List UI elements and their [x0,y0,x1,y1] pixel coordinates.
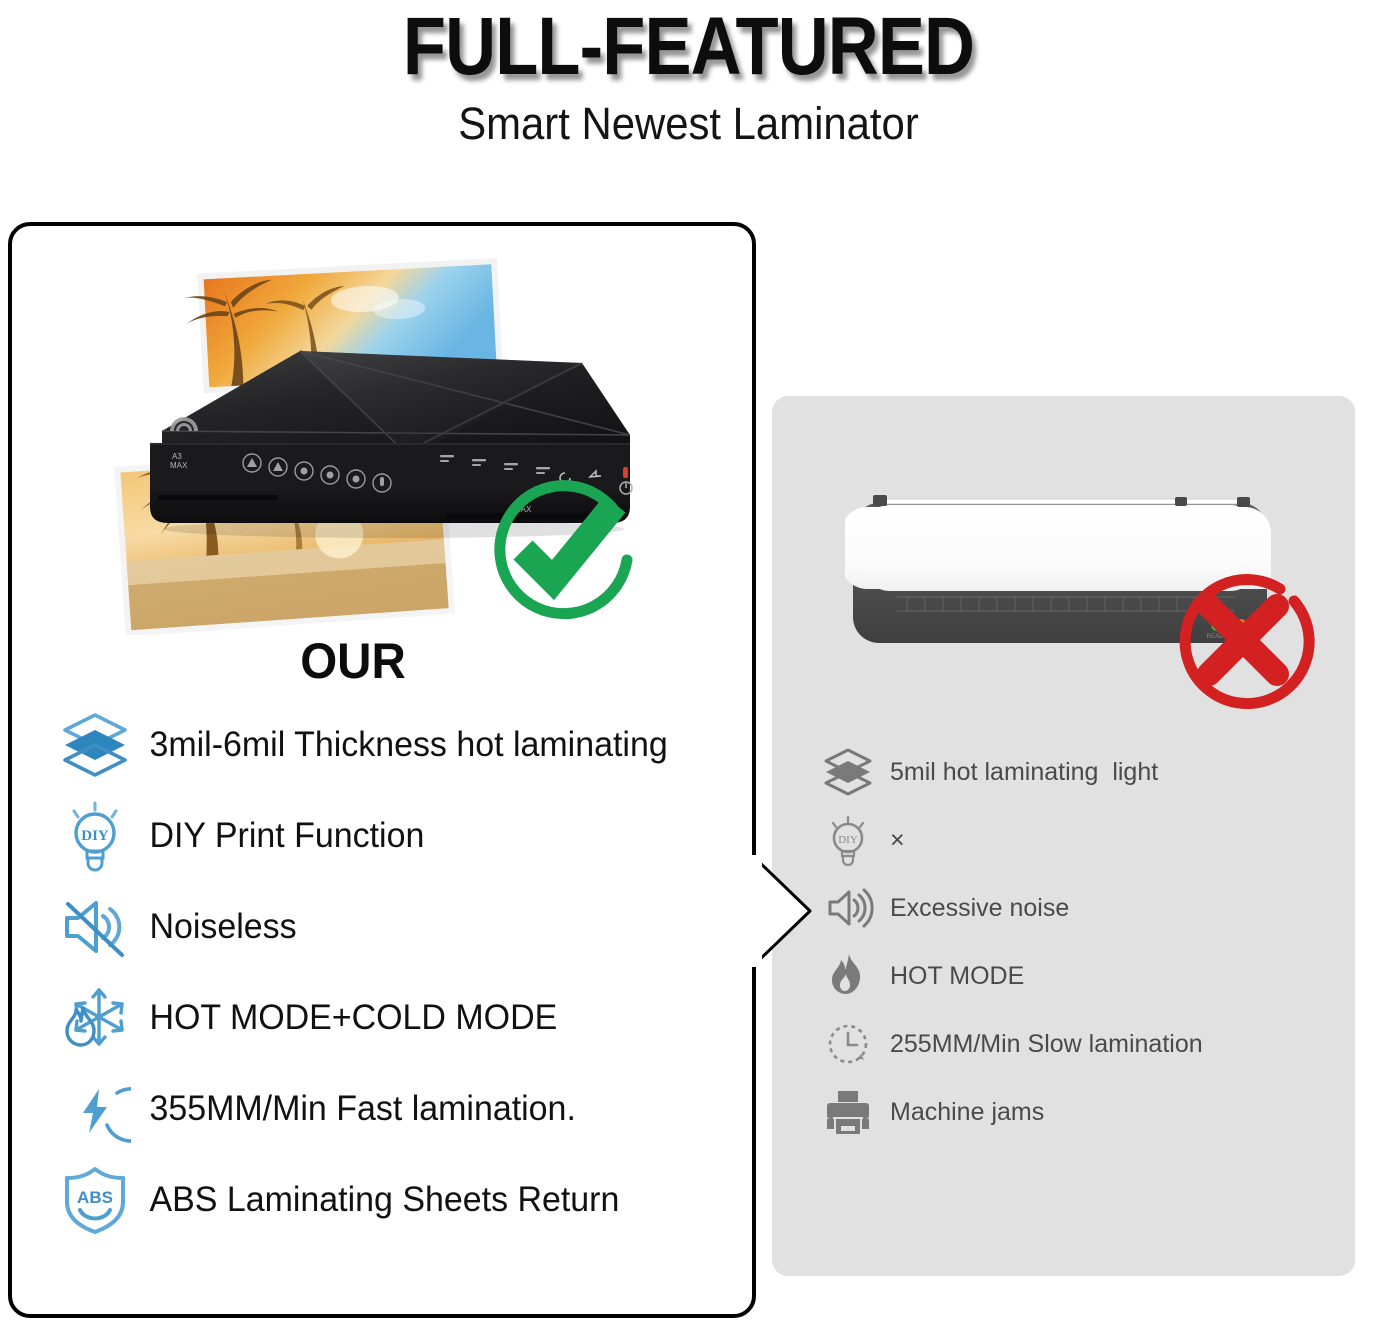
competitor-feature-list: 5mil hot laminating light DIY × [820,738,1340,1146]
lightning-icon [58,1070,132,1148]
snowflake-flame-icon [58,979,132,1057]
flame-icon [820,947,876,1005]
list-item-label: ABS Laminating Sheets Return [132,1180,619,1220]
svg-text:ABS: ABS [77,1188,113,1207]
layers-icon [820,743,876,801]
list-item: HOT MODE [820,942,1340,1010]
list-item-label: 5mil hot laminating light [876,757,1158,787]
list-item: 255MM/Min Slow lamination [820,1010,1340,1078]
diy-bulb-icon: DIY [820,811,876,869]
list-item-label: 255MM/Min Slow lamination [876,1029,1203,1059]
list-item-label: Noiseless [132,907,297,947]
red-x-icon [1168,565,1318,715]
clock-icon [820,1015,876,1073]
page-title: FULL-FEATURED [96,4,1280,90]
green-check-icon [485,468,645,628]
svg-text:DIY: DIY [838,834,858,846]
page-subtitle: Smart Newest Laminator [48,98,1329,150]
list-item-label: 355MM/Min Fast lamination. [132,1089,576,1129]
list-item: DIY × [820,806,1340,874]
list-item: Machine jams [820,1078,1340,1146]
our-section-title: OUR [25,633,681,689]
list-item-label: DIY Print Function [132,816,424,856]
our-feature-list: 3mil-6mil Thickness hot laminating DIY D… [58,700,738,1246]
abs-shield-icon: ABS [58,1161,132,1239]
printer-icon [820,1083,876,1141]
list-item-label: Excessive noise [876,893,1069,923]
list-item: 3mil-6mil Thickness hot laminating [58,700,738,790]
layers-icon [58,706,132,784]
list-item: Excessive noise [820,874,1340,942]
list-item-label: 3mil-6mil Thickness hot laminating [132,725,668,765]
svg-text:A3: A3 [172,452,182,461]
list-item: 5mil hot laminating light [820,738,1340,806]
list-item-label: Machine jams [876,1097,1044,1127]
speaker-noise-icon [820,879,876,937]
svg-text:DIY: DIY [81,828,109,844]
list-item: ABS ABS Laminating Sheets Return [58,1155,738,1245]
list-item-label: HOT MODE [876,961,1024,991]
list-item: HOT MODE+COLD MODE [58,973,738,1063]
arrow-right-icon [752,855,812,967]
diy-bulb-icon: DIY [58,797,132,875]
list-item-label: × [876,825,905,855]
list-item: 355MM/Min Fast lamination. [58,1064,738,1154]
list-item: DIY DIY Print Function [58,791,738,881]
svg-text:MAX: MAX [170,461,188,470]
speaker-mute-icon [58,888,132,966]
list-item-label: HOT MODE+COLD MODE [132,998,557,1038]
header: FULL-FEATURED Smart Newest Laminator [0,0,1377,150]
list-item: Noiseless [58,882,738,972]
